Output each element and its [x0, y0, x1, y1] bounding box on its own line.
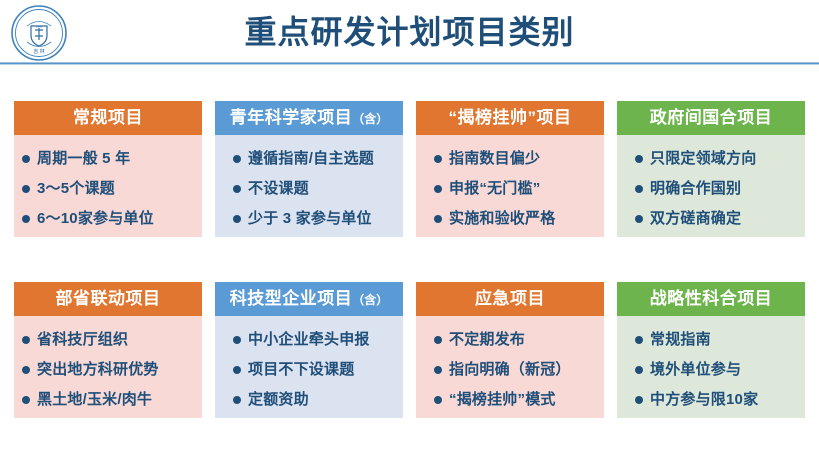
list-item-label: 指南数目偏少 [449, 151, 540, 167]
list-item-label: 中小企业牵头申报 [248, 332, 370, 348]
card-emergency-project[interactable]: 应急项目 不定期发布 指向明确（新冠） “揭榜挂帅”模式 [416, 282, 604, 418]
list-item: 指南数目偏少 [424, 144, 598, 174]
bullet-icon [22, 396, 30, 404]
card-regular-project[interactable]: 常规项目 周期一般 5 年 3～5个课题 6～10家参与单位 [14, 101, 202, 237]
bullet-icon [635, 396, 643, 404]
list-item: 实施和验收严格 [424, 204, 598, 234]
bullet-icon [22, 215, 30, 223]
card-header: 科技型企业项目（含） [215, 282, 403, 316]
card-title: “揭榜挂帅”项目 [449, 108, 572, 127]
list-item: 突出地方科研优势 [22, 355, 196, 385]
list-item: “揭榜挂帅”模式 [424, 385, 598, 415]
bullet-icon [233, 396, 241, 404]
bullet-icon [233, 185, 241, 193]
list-item-label: 常规指南 [650, 332, 711, 348]
list-item: 双方磋商确定 [625, 204, 799, 234]
list-item-label: 周期一般 5 年 [37, 151, 130, 167]
list-item: 指向明确（新冠） [424, 355, 598, 385]
page-title: 重点研发计划项目类别 [0, 9, 819, 55]
card-title-suffix: （含） [352, 112, 388, 126]
card-body: 中小企业牵头申报 项目不下设课题 定额资助 [215, 316, 403, 418]
bullet-icon [233, 215, 241, 223]
card-header: “揭榜挂帅”项目 [416, 101, 604, 135]
card-header: 常规项目 [14, 101, 202, 135]
list-item-label: 突出地方科研优势 [37, 362, 159, 378]
bullet-icon [434, 336, 442, 344]
list-item-label: 少于 3 家参与单位 [248, 211, 372, 227]
list-item-label: “揭榜挂帅”模式 [449, 392, 556, 408]
bullet-icon [22, 366, 30, 374]
card-title: 科技型企业项目 [230, 289, 353, 308]
list-item: 常规指南 [625, 325, 799, 355]
card-title: 政府间国合项目 [650, 108, 773, 127]
card-body: 遵循指南/自主选题 不设课题 少于 3 家参与单位 [215, 135, 403, 237]
list-item: 6～10家参与单位 [22, 204, 196, 234]
list-item: 黑土地/玉米/肉牛 [22, 385, 196, 415]
list-item: 项目不下设课题 [223, 355, 397, 385]
bullet-icon [635, 155, 643, 163]
bullet-icon [22, 155, 30, 163]
card-body: 省科技厅组织 突出地方科研优势 黑土地/玉米/肉牛 [14, 316, 202, 418]
list-item-label: 定额资助 [248, 392, 309, 408]
bullet-icon [635, 366, 643, 374]
list-item-label: 黑土地/玉米/肉牛 [37, 392, 152, 408]
list-item-label: 中方参与限10家 [650, 392, 758, 408]
bullet-icon [233, 366, 241, 374]
list-item-label: 不定期发布 [449, 332, 525, 348]
card-body: 只限定领域方向 明确合作国别 双方磋商确定 [617, 135, 805, 237]
card-intergovernmental-cooperation-project[interactable]: 政府间国合项目 只限定领域方向 明确合作国别 双方磋商确定 [617, 101, 805, 237]
bullet-icon [434, 366, 442, 374]
card-young-scientist-project[interactable]: 青年科学家项目（含） 遵循指南/自主选题 不设课题 少于 3 家参与单位 [215, 101, 403, 237]
bullet-icon [434, 185, 442, 193]
card-title-suffix: （含） [352, 293, 388, 307]
list-item-label: 明确合作国别 [650, 181, 741, 197]
list-item: 中方参与限10家 [625, 385, 799, 415]
card-ministry-province-joint-project[interactable]: 部省联动项目 省科技厅组织 突出地方科研优势 黑土地/玉米/肉牛 [14, 282, 202, 418]
bullet-icon [22, 185, 30, 193]
card-header: 战略性科合项目 [617, 282, 805, 316]
bullet-icon [635, 336, 643, 344]
list-item-label: 遵循指南/自主选题 [248, 151, 374, 167]
list-item-label: 境外单位参与 [650, 362, 741, 378]
card-tech-enterprise-project[interactable]: 科技型企业项目（含） 中小企业牵头申报 项目不下设课题 定额资助 [215, 282, 403, 418]
card-title: 战略性科合项目 [650, 289, 773, 308]
list-item: 遵循指南/自主选题 [223, 144, 397, 174]
list-item-label: 6～10家参与单位 [37, 211, 154, 227]
list-item: 少于 3 家参与单位 [223, 204, 397, 234]
list-item: 申报“无门槛” [424, 174, 598, 204]
card-strategic-scientific-cooperation-project[interactable]: 战略性科合项目 常规指南 境外单位参与 中方参与限10家 [617, 282, 805, 418]
list-item: 不定期发布 [424, 325, 598, 355]
list-item-label: 只限定领域方向 [650, 151, 756, 167]
card-body: 常规指南 境外单位参与 中方参与限10家 [617, 316, 805, 418]
card-header: 应急项目 [416, 282, 604, 316]
bullet-icon [434, 155, 442, 163]
bullet-icon [635, 185, 643, 193]
card-body: 不定期发布 指向明确（新冠） “揭榜挂帅”模式 [416, 316, 604, 418]
card-header: 青年科学家项目（含） [215, 101, 403, 135]
card-open-competition-project[interactable]: “揭榜挂帅”项目 指南数目偏少 申报“无门槛” 实施和验收严格 [416, 101, 604, 237]
list-item: 定额资助 [223, 385, 397, 415]
project-category-card-grid: 常规项目 周期一般 5 年 3～5个课题 6～10家参与单位 青年科学家项目（含… [14, 101, 805, 418]
bullet-icon [22, 336, 30, 344]
card-title: 应急项目 [475, 289, 545, 308]
list-item: 省科技厅组织 [22, 325, 196, 355]
list-item-label: 指向明确（新冠） [449, 362, 571, 378]
list-item: 只限定领域方向 [625, 144, 799, 174]
header-divider [0, 62, 819, 65]
list-item-label: 申报“无门槛” [449, 181, 540, 197]
bullet-icon [434, 396, 442, 404]
card-header: 部省联动项目 [14, 282, 202, 316]
slide-header: 1946 吉 林 重点研发计划项目类别 [0, 0, 819, 64]
bullet-icon [233, 336, 241, 344]
list-item-label: 省科技厅组织 [37, 332, 128, 348]
list-item: 周期一般 5 年 [22, 144, 196, 174]
list-item-label: 3～5个课题 [37, 181, 115, 197]
bullet-icon [635, 215, 643, 223]
card-title: 常规项目 [73, 108, 143, 127]
card-body: 周期一般 5 年 3～5个课题 6～10家参与单位 [14, 135, 202, 237]
list-item: 中小企业牵头申报 [223, 325, 397, 355]
card-title: 部省联动项目 [56, 289, 161, 308]
bullet-icon [233, 155, 241, 163]
card-title: 青年科学家项目 [230, 108, 353, 127]
list-item-label: 双方磋商确定 [650, 211, 741, 227]
card-body: 指南数目偏少 申报“无门槛” 实施和验收严格 [416, 135, 604, 237]
list-item-label: 不设课题 [248, 181, 309, 197]
list-item-label: 项目不下设课题 [248, 362, 354, 378]
list-item-label: 实施和验收严格 [449, 211, 555, 227]
list-item: 境外单位参与 [625, 355, 799, 385]
list-item: 3～5个课题 [22, 174, 196, 204]
bullet-icon [434, 215, 442, 223]
list-item: 不设课题 [223, 174, 397, 204]
list-item: 明确合作国别 [625, 174, 799, 204]
card-header: 政府间国合项目 [617, 101, 805, 135]
